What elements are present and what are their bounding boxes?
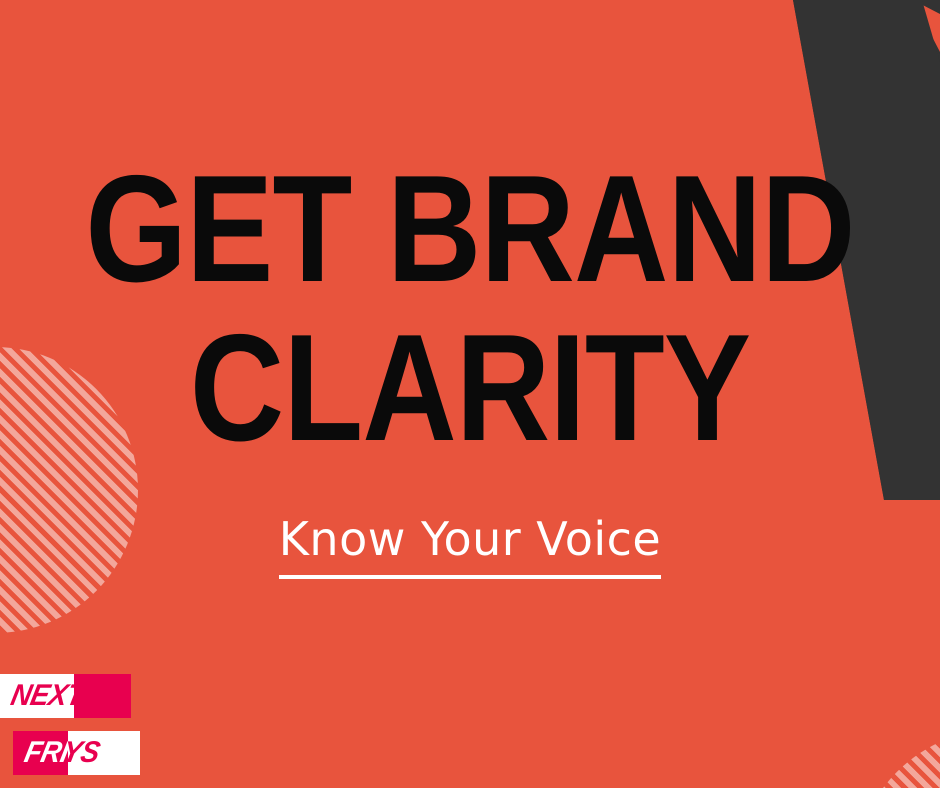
poster-content: GET BRAND CLARITY Know Your Voice NEXT- … bbox=[0, 0, 940, 788]
logo-row-fridays: FRI DAYS bbox=[13, 731, 140, 775]
logo-text-days: DAYS bbox=[68, 738, 102, 768]
logo-text-next: NEXT- bbox=[8, 681, 74, 711]
logo-segment-next: NEXT- bbox=[0, 674, 74, 718]
logo-segment-fri: FRI bbox=[13, 731, 68, 775]
logo-row-next-gen: NEXT- GEN bbox=[0, 674, 131, 718]
headline-line-1: GET BRAND bbox=[66, 155, 874, 304]
poster-canvas: GET BRAND CLARITY Know Your Voice NEXT- … bbox=[0, 0, 940, 788]
logo-segment-gen: GEN bbox=[74, 674, 131, 718]
headline-block: GET BRAND CLARITY bbox=[0, 155, 940, 463]
brand-logo: NEXT- GEN FRI DAYS bbox=[0, 674, 140, 786]
logo-segment-days: DAYS bbox=[68, 731, 140, 775]
headline-line-2: CLARITY bbox=[66, 314, 874, 463]
subtitle-block: Know Your Voice bbox=[0, 512, 940, 579]
subtitle-text: Know Your Voice bbox=[279, 512, 661, 579]
logo-text-fri: FRI bbox=[22, 738, 68, 768]
